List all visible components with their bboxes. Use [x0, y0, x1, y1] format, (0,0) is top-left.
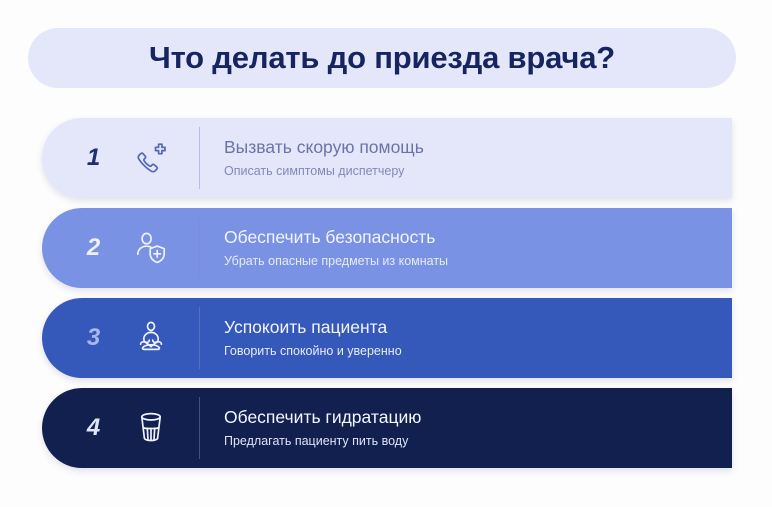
step-3-body: Успокоить пациента Говорить спокойно и у…	[200, 298, 732, 378]
step-2-number: 2	[81, 236, 107, 260]
step-4-title: Обеспечить гидратацию	[224, 407, 732, 427]
step-2-body: Обеспечить безопасность Убрать опасные п…	[200, 208, 732, 288]
step-1-title: Вызвать скорую помощь	[224, 137, 732, 157]
step-row-2[interactable]: 2 Обеспечить безопасность Убрать опасные…	[42, 208, 732, 288]
step-4-body: Обеспечить гидратацию Предлагать пациент…	[200, 388, 732, 468]
person-shield-plus-icon	[132, 229, 170, 267]
step-4-number: 4	[81, 416, 107, 440]
step-1-lead: 1	[42, 118, 200, 198]
step-2-lead: 2	[42, 208, 200, 288]
meditation-lotus-icon	[132, 319, 170, 357]
water-glass-icon	[132, 409, 170, 447]
step-3-number: 3	[81, 326, 107, 350]
step-1-number: 1	[81, 146, 107, 170]
step-1-subtitle: Описать симптомы диспетчеру	[224, 164, 732, 178]
step-1-body: Вызвать скорую помощь Описать симптомы д…	[200, 118, 732, 198]
step-3-title: Успокоить пациента	[224, 317, 732, 337]
step-row-4[interactable]: 4 Обеспечить гидратацию Предлагать пацие…	[42, 388, 732, 468]
page-title: Что делать до приезда врача?	[149, 40, 615, 76]
step-4-subtitle: Предлагать пациенту пить воду	[224, 434, 732, 448]
step-2-subtitle: Убрать опасные предметы из комнаты	[224, 254, 732, 268]
phone-medical-cross-icon	[132, 139, 170, 177]
step-row-3[interactable]: 3 Успокоить пациента Говорить спокойно и…	[42, 298, 732, 378]
step-row-1[interactable]: 1 Вызвать скорую помощь Описать симптомы…	[42, 118, 732, 198]
step-4-lead: 4	[42, 388, 200, 468]
steps-list: 1 Вызвать скорую помощь Описать симптомы…	[42, 118, 732, 478]
page-title-banner: Что делать до приезда врача?	[28, 28, 736, 88]
step-2-title: Обеспечить безопасность	[224, 227, 732, 247]
step-3-lead: 3	[42, 298, 200, 378]
step-3-subtitle: Говорить спокойно и уверенно	[224, 344, 732, 358]
